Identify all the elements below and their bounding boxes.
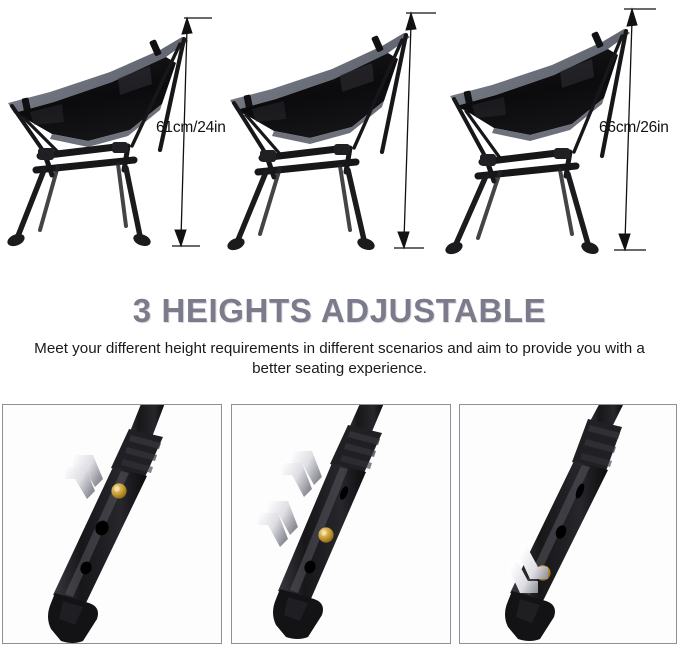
leg-illustration-highest — [460, 405, 676, 643]
chair-leg-front-right — [126, 168, 140, 236]
chair-frame-joint-left — [38, 148, 54, 160]
chevron-down-icon-group-2 — [258, 501, 298, 547]
leg-adjustment-section — [0, 404, 679, 647]
leg-panel-lowest — [2, 404, 222, 644]
chair-frame-joint-left — [260, 150, 276, 162]
chair-unit-61cm: 61cm/24in — [0, 0, 230, 272]
chair-illustration-2 — [222, 0, 452, 272]
leg-lock-pin-highlight — [114, 486, 119, 491]
chair-frame-joint-right — [334, 144, 350, 155]
chair-unit-71cm: 71cm/28in — [442, 0, 679, 272]
chair-frame-joint-right — [554, 148, 570, 159]
leg-lock-pin — [318, 527, 333, 542]
chair-strap-right — [591, 31, 604, 48]
chair-frame-joint-right — [112, 142, 128, 153]
chair-unit-66cm: 66cm/26in — [222, 0, 452, 272]
headline-section: 3 HEIGHTS ADJUSTABLE Meet your different… — [0, 272, 679, 390]
chevron-down-icon-group — [282, 451, 322, 497]
chair-frame-joint-left — [480, 154, 496, 166]
dimension-label-61cm: 61cm/24in — [156, 119, 226, 137]
chevron-down-icon-group — [65, 455, 103, 499]
chairs-comparison-section: 61cm/24in — [0, 0, 679, 272]
leg-illustration-lowest — [3, 405, 221, 643]
leg-panel-highest — [459, 404, 677, 644]
dimension-line-2 — [394, 13, 436, 248]
leg-lock-pin — [111, 483, 126, 498]
leg-lock-pin-highlight — [321, 530, 326, 535]
leg-illustration-middle — [232, 405, 450, 643]
page-subtitle: Meet your different height requirements … — [0, 330, 679, 379]
chair-illustration-3 — [442, 0, 679, 272]
chair-strap-right — [371, 35, 384, 52]
leg-panel-middle — [231, 404, 451, 644]
dimension-line-3 — [614, 9, 656, 250]
page-title: 3 HEIGHTS ADJUSTABLE — [0, 272, 679, 330]
chair-strap-right — [149, 39, 162, 56]
